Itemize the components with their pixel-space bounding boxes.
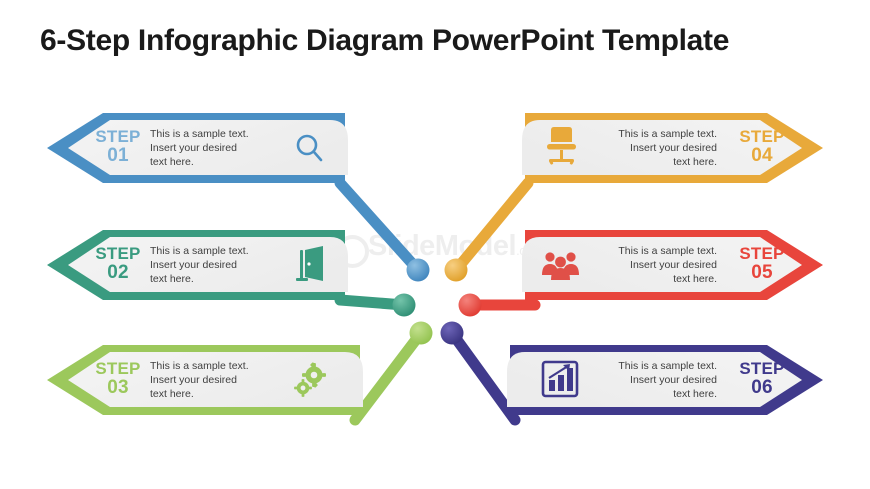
- step-05-group[interactable]: [522, 230, 823, 300]
- slide-canvas: 6-Step Infographic Diagram PowerPoint Te…: [0, 0, 870, 489]
- connector-step-06: [452, 333, 515, 420]
- connector-lines: [340, 183, 535, 420]
- node-step-01[interactable]: [407, 259, 430, 282]
- hub-nodes: [393, 259, 482, 345]
- connector-step-01: [340, 183, 418, 270]
- step-02-group[interactable]: [47, 230, 348, 300]
- node-step-04[interactable]: [445, 259, 468, 282]
- step-04-group[interactable]: [522, 113, 823, 183]
- connector-step-03: [355, 333, 421, 420]
- door-icon: [296, 246, 323, 281]
- office-chair-icon: [547, 127, 576, 165]
- node-step-05[interactable]: [459, 294, 482, 317]
- connector-step-04: [456, 183, 528, 270]
- step-01-panel[interactable]: [68, 120, 348, 175]
- node-step-03[interactable]: [410, 322, 433, 345]
- infographic-diagram: [0, 0, 870, 489]
- node-step-06[interactable]: [441, 322, 464, 345]
- step-01-group[interactable]: [47, 113, 348, 183]
- step-03-group[interactable]: [47, 345, 363, 415]
- step-06-group[interactable]: [507, 345, 823, 415]
- step-06-panel[interactable]: [507, 352, 802, 407]
- node-step-02[interactable]: [393, 294, 416, 317]
